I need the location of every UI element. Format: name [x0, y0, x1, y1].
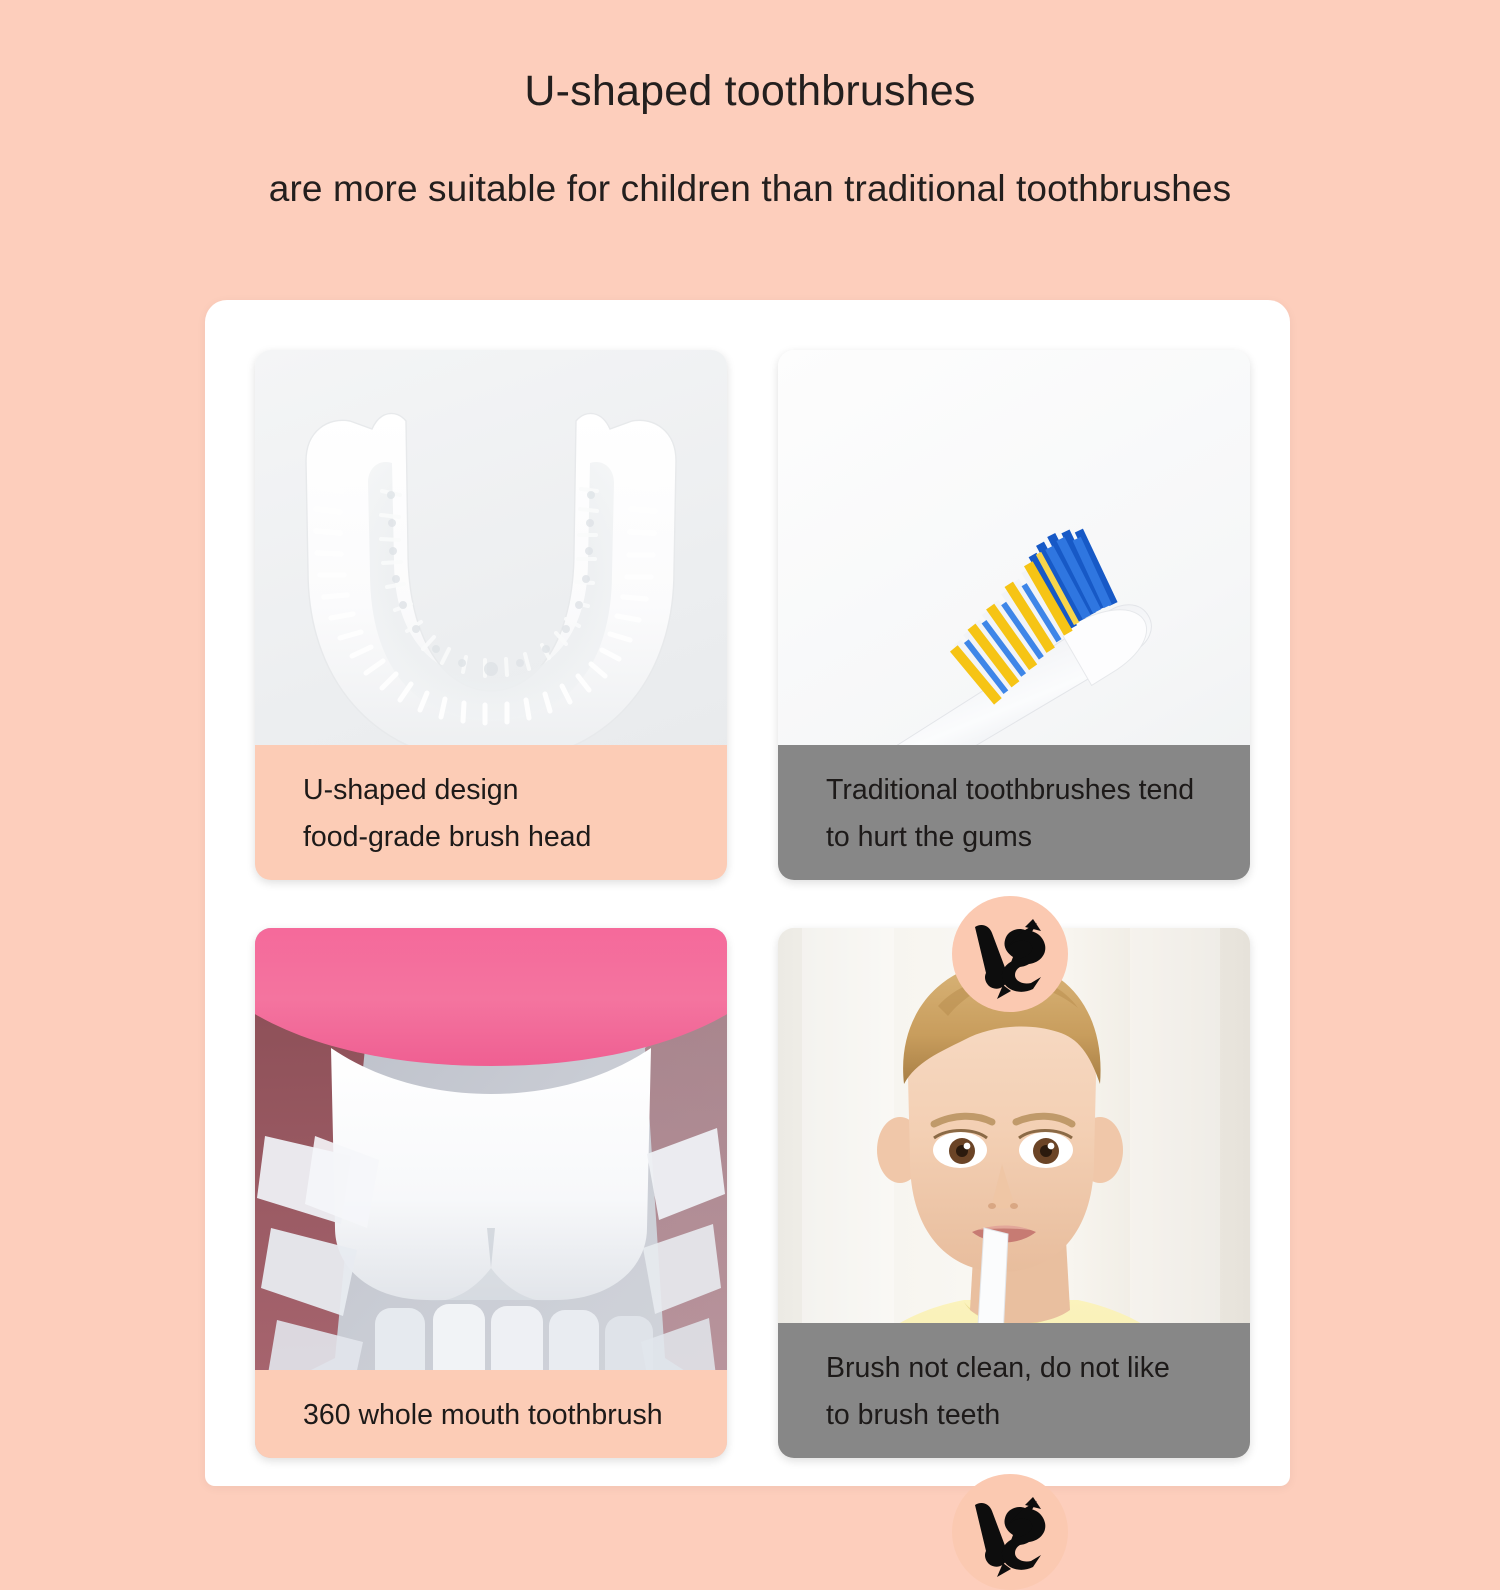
caption-line-1: 360 whole mouth toothbrush — [303, 1392, 727, 1438]
page-title: U-shaped toothbrushes — [524, 70, 975, 113]
caption-line-1: U-shaped design — [303, 767, 727, 813]
page-subtitle: are more suitable for children than trad… — [269, 170, 1231, 207]
card-caption: 360 whole mouth toothbrush — [255, 1370, 727, 1458]
caption-line-2: to hurt the gums — [826, 814, 1250, 860]
caption-line-1: Brush not clean, do not like — [826, 1345, 1250, 1391]
silicone-bristles-right — [641, 1128, 725, 1408]
card-whole-mouth-toothbrush[interactable]: 360 whole mouth toothbrush — [255, 928, 727, 1458]
vs-badge-top — [952, 896, 1068, 1012]
caption-line-1: Traditional toothbrushes tend — [826, 767, 1250, 813]
caption-line-2: food-grade brush head — [303, 814, 727, 860]
card-traditional-toothbrush[interactable]: Traditional toothbrushes tend to hurt th… — [778, 350, 1250, 880]
vs-badge-bottom — [952, 1474, 1068, 1590]
card-u-shaped-design[interactable]: U-shaped design food-grade brush head — [255, 350, 727, 880]
caption-line-2: to brush teeth — [826, 1392, 1250, 1438]
header: U-shaped toothbrushes are more suitable … — [0, 0, 1500, 300]
card-caption: Brush not clean, do not like to brush te… — [778, 1323, 1250, 1458]
card-caption: U-shaped design food-grade brush head — [255, 745, 727, 880]
card-caption: Traditional toothbrushes tend to hurt th… — [778, 745, 1250, 880]
vs-icon — [963, 1485, 1057, 1579]
comparison-grid: U-shaped design food-grade brush head — [255, 350, 1250, 1458]
vs-icon — [963, 907, 1057, 1001]
